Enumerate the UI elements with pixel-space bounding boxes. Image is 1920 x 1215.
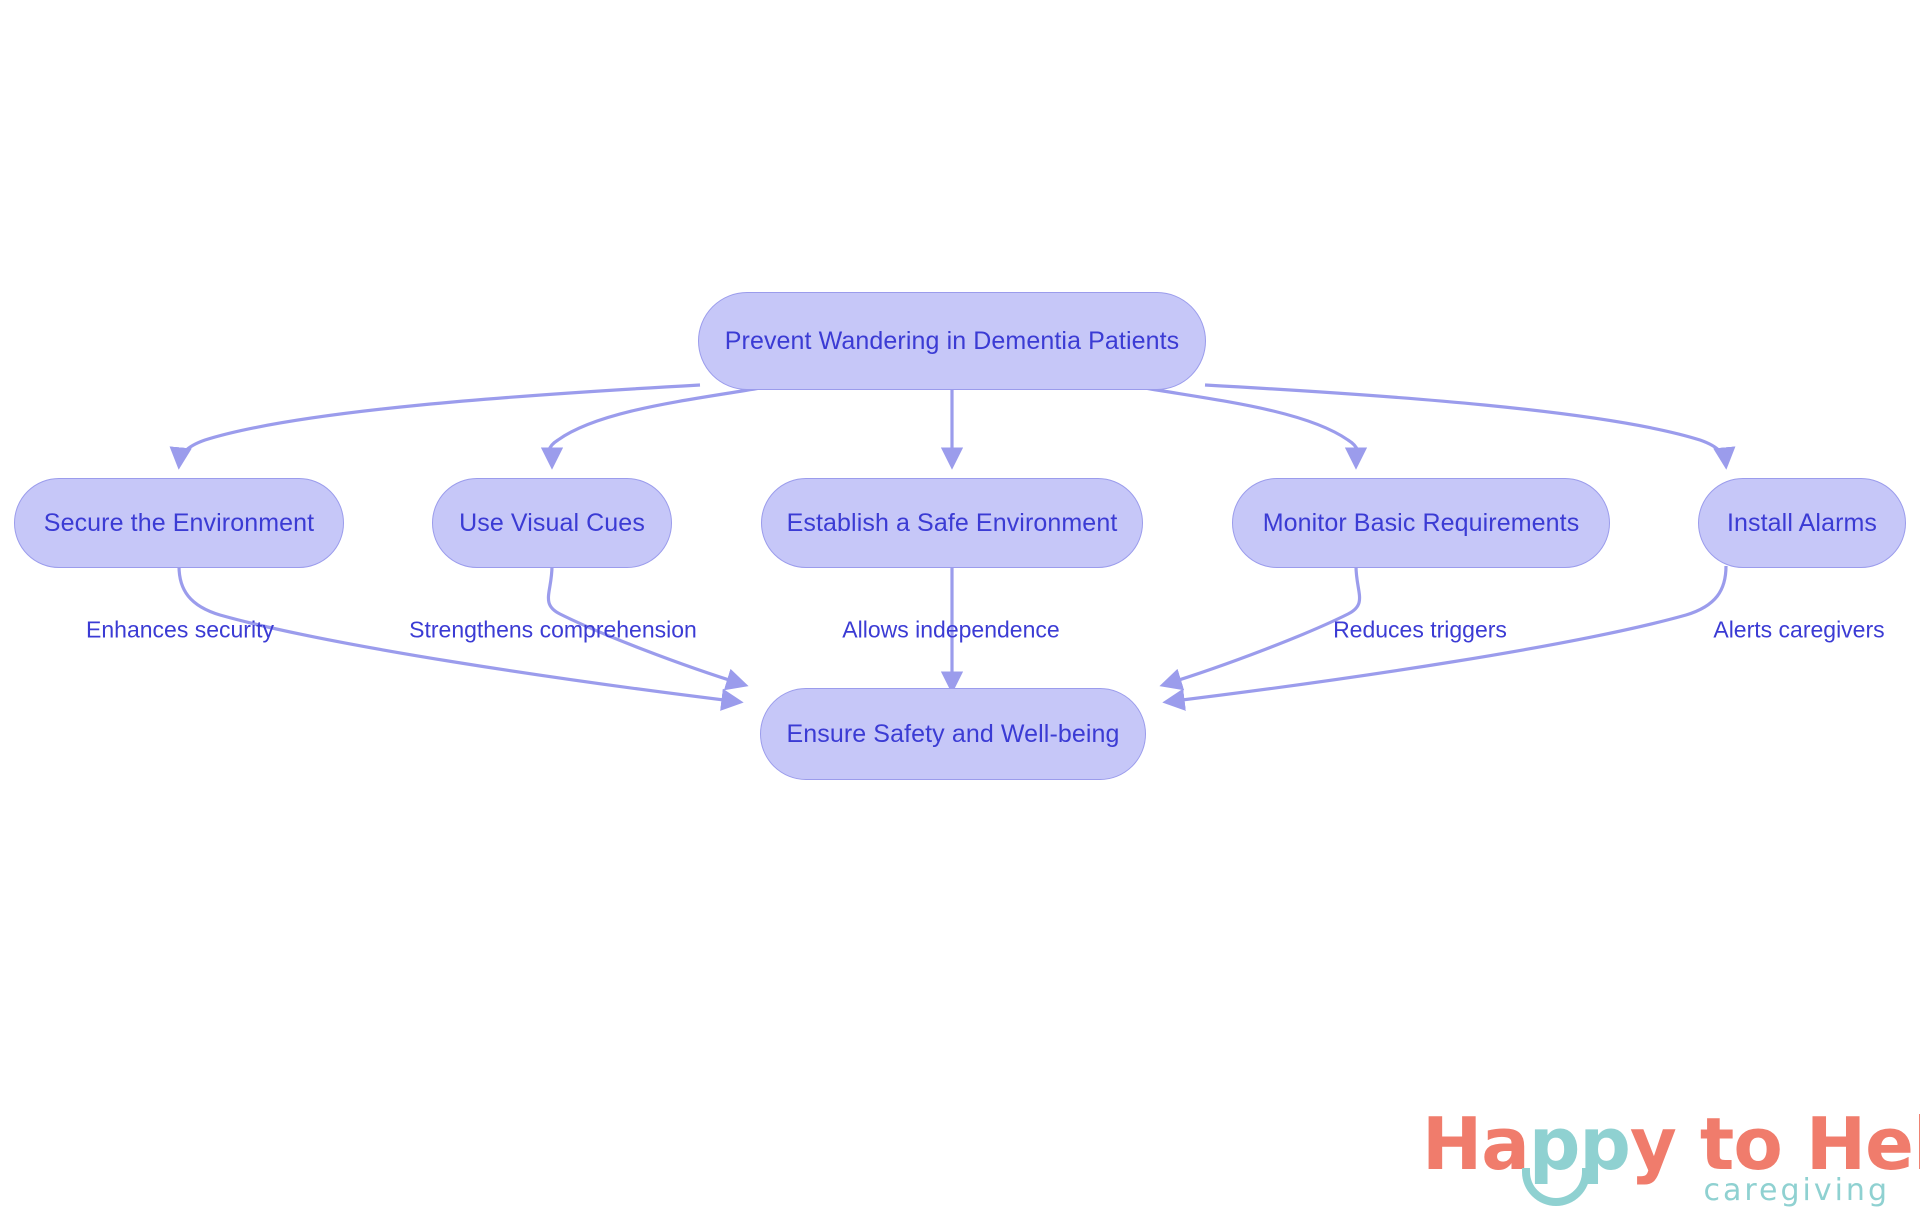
edge-label-alerts-caregivers: Alerts caregivers xyxy=(1713,619,1884,642)
edge-label-enhances-security: Enhances security xyxy=(86,619,274,642)
node-label: Install Alarms xyxy=(1727,511,1877,536)
flowchart-edges xyxy=(0,0,1920,1215)
edge-label-allows-independence: Allows independence xyxy=(842,619,1059,642)
node-label: Secure the Environment xyxy=(44,511,314,536)
edge-label-strengthens-comprehension: Strengthens comprehension xyxy=(409,619,697,642)
edge-root-to-secure-environment xyxy=(179,385,700,466)
logo-text-ha: Ha xyxy=(1422,1102,1529,1186)
node-label: Prevent Wandering in Dementia Patients xyxy=(725,329,1180,354)
flowchart-canvas: Prevent Wandering in Dementia Patients S… xyxy=(0,0,1920,1215)
edge-root-to-install-alarms xyxy=(1205,385,1726,466)
edge-root-to-monitor-basic-requirements xyxy=(1145,388,1358,466)
logo-text-y: y xyxy=(1630,1102,1676,1186)
edge-label-reduces-triggers: Reduces triggers xyxy=(1333,619,1507,642)
node-monitor-basic-requirements[interactable]: Monitor Basic Requirements xyxy=(1232,478,1610,568)
brand-logo: Happy to Help caregiving xyxy=(1422,1108,1892,1208)
edge-monitor-basic-requirements-to-ensure-safety xyxy=(1163,566,1360,685)
edge-root-to-use-visual-cues xyxy=(549,388,760,466)
node-use-visual-cues[interactable]: Use Visual Cues xyxy=(432,478,672,568)
node-label: Ensure Safety and Well-being xyxy=(786,722,1119,747)
smile-icon xyxy=(1522,1168,1590,1206)
node-install-alarms[interactable]: Install Alarms xyxy=(1698,478,1906,568)
logo-wordmark: Happy to Help xyxy=(1422,1108,1920,1180)
logo-subtitle: caregiving xyxy=(1703,1176,1890,1206)
node-label: Monitor Basic Requirements xyxy=(1263,511,1580,536)
node-prevent-wandering[interactable]: Prevent Wandering in Dementia Patients xyxy=(698,292,1206,390)
node-label: Establish a Safe Environment xyxy=(787,511,1118,536)
node-secure-environment[interactable]: Secure the Environment xyxy=(14,478,344,568)
node-label: Use Visual Cues xyxy=(459,511,645,536)
node-ensure-safety[interactable]: Ensure Safety and Well-being xyxy=(760,688,1146,780)
node-establish-safe-environment[interactable]: Establish a Safe Environment xyxy=(761,478,1143,568)
